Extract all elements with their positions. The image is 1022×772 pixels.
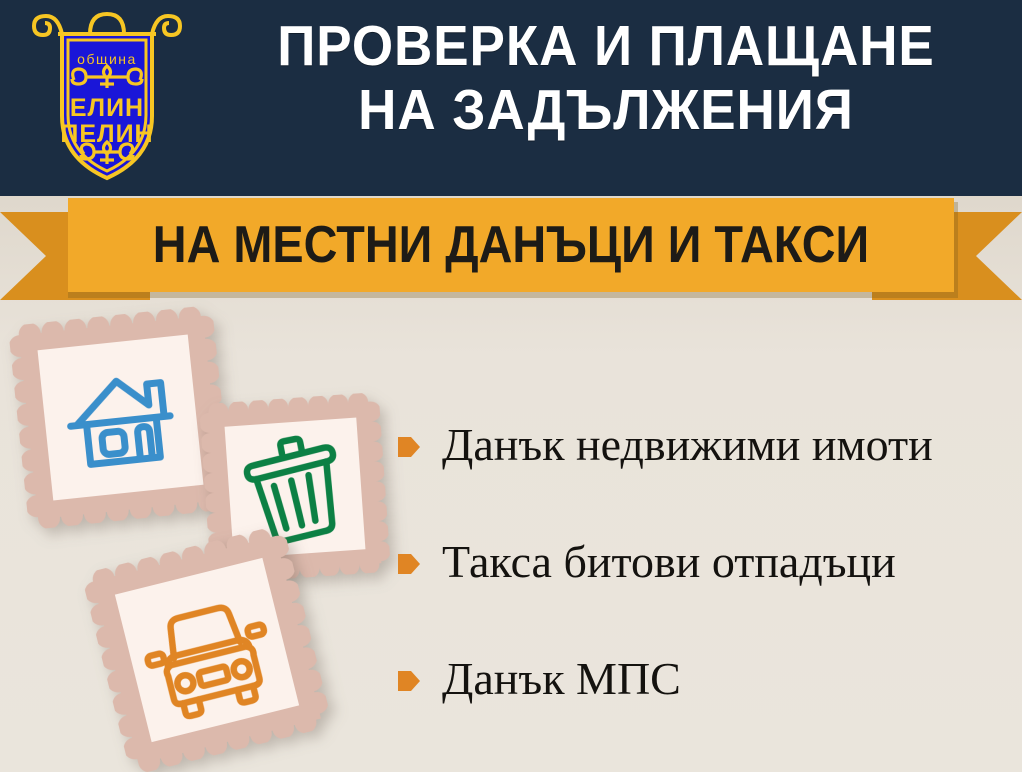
scroll-curl-center <box>90 14 124 34</box>
list-item[interactable]: Такса битови отпадъци <box>398 537 1008 587</box>
page-title-line-1: ПРОВЕРКА И ПЛАЩАНЕ <box>225 14 988 78</box>
list-item-label: Данък МПС <box>442 654 681 704</box>
tax-services-list: Данък недвижими имоти Такса битови отпад… <box>398 420 1008 771</box>
list-item[interactable]: Данък МПС <box>398 654 1008 704</box>
arrow-bullet-icon <box>398 552 420 576</box>
page-title-line-2: НА ЗАДЪЛЖЕНИЯ <box>225 78 988 142</box>
scroll-curl-left <box>34 16 62 35</box>
scroll-curl-right <box>152 16 180 35</box>
municipality-logo: община ЕЛИН ПЕЛИН <box>28 8 186 188</box>
ribbon-main-band: НА МЕСТНИ ДАНЪЦИ И ТАКСИ <box>68 198 954 292</box>
ribbon-label: НА МЕСТНИ ДАНЪЦИ И ТАКСИ <box>153 217 869 273</box>
list-item-label: Данък недвижими имоти <box>442 420 933 470</box>
arrow-bullet-icon <box>398 669 420 693</box>
arrow-bullet-icon <box>398 435 420 459</box>
list-item-label: Такса битови отпадъци <box>442 537 896 587</box>
list-item[interactable]: Данък недвижими имоти <box>398 420 1008 470</box>
poster-root: Данък недвижими имоти Такса битови отпад… <box>0 0 1022 772</box>
logo-svg: община ЕЛИН ПЕЛИН <box>28 8 186 188</box>
logo-word-line1: ЕЛИН <box>70 94 144 122</box>
ribbon-banner: НА МЕСТНИ ДАНЪЦИ И ТАКСИ <box>0 196 1022 304</box>
header-title-group: ПРОВЕРКА И ПЛАЩАНЕ НА ЗАДЪЛЖЕНИЯ <box>196 14 1016 142</box>
header-bar: община ЕЛИН ПЕЛИН <box>0 0 1022 196</box>
